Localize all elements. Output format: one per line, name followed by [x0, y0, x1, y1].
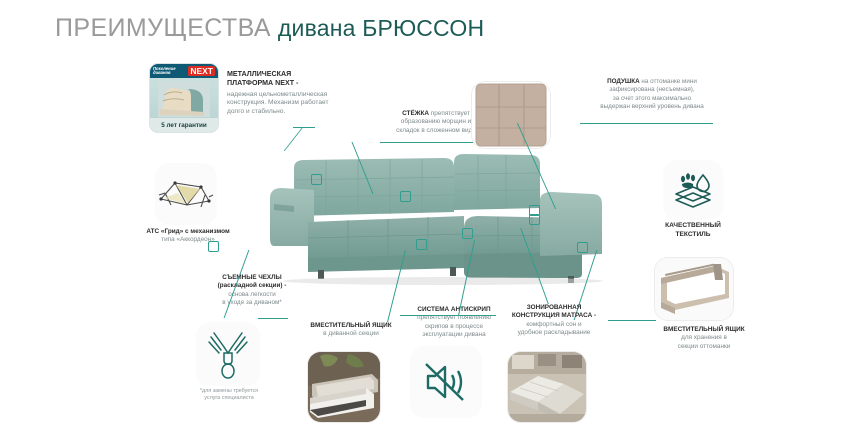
- sofa-hotspot-drawer-sofa[interactable]: [416, 239, 427, 250]
- atc-line2: типа «Аккордеон»: [140, 236, 236, 244]
- pillow-body-line4: выдержан верхний уровень дивана: [578, 103, 726, 111]
- callout-mattress: ЗОНИРОВАННАЯ КОНСТРУКЦИЯ МАТРАСА - комфо…: [492, 304, 616, 338]
- atc-line1: АТС «Грид» с механизмом: [146, 228, 229, 235]
- badge-next-label: NEXT: [188, 66, 215, 76]
- infographic-page: ПРЕИМУЩЕСТВАдивана БРЮССОН Поколение див…: [0, 0, 843, 435]
- badge-top-line2: диванов: [153, 71, 176, 75]
- next-generation-badge: Поколение диванов NEXT 5 лет гарантии: [150, 64, 218, 132]
- textile-line1: КАЧЕСТВЕННЫЙ: [665, 222, 721, 229]
- callout-atc-grid: АТС «Грид» с механизмом типа «Аккордеон»: [140, 228, 236, 245]
- pillow-body-line2: зафиксирована (несъемная),: [578, 86, 726, 94]
- zipper-icon-card: [196, 322, 260, 386]
- sofa-hotspot-covers[interactable]: [208, 241, 219, 252]
- sofa-hotspot-pillow[interactable]: [529, 205, 540, 216]
- sofa-drawer-title: ВМЕСТИТЕЛЬНЫЙ ЯЩИК: [310, 322, 391, 329]
- quilting-body-line1: препятствует: [431, 110, 470, 117]
- covers-footnote: *для замены требуется услуга специалиста: [185, 388, 273, 402]
- callout-pillow: ПОДУШКА на оттоманке мини зафиксирована …: [578, 78, 726, 111]
- platform-title-line2: ПЛАТФОРМА NEXT -: [227, 79, 298, 87]
- mute-speaker-icon: [423, 361, 469, 403]
- platform-body-line3: долго и стабильно.: [227, 108, 347, 117]
- page-title-primary: ПРЕИМУЩЕСТВА: [55, 14, 271, 42]
- ottoman-drawer-line1: для хранения в: [630, 334, 778, 342]
- sofa-hotspot-antisqueak[interactable]: [462, 228, 473, 239]
- connector-platform-diag: [284, 127, 323, 151]
- pillow-title: ПОДУШКА: [607, 78, 640, 85]
- page-title-secondary: дивана БРЮССОН: [278, 15, 484, 41]
- pillow-body-line3: за счет этого максимально: [578, 95, 726, 103]
- sofa-drawer-body: в диванной секции: [296, 330, 406, 338]
- ottoman-drawer-title: ВМЕСТИТЕЛЬНЫЙ ЯЩИК: [663, 326, 744, 333]
- covers-footnote-line2: услуга специалиста: [185, 395, 273, 402]
- sofa-hotspot-platform[interactable]: [311, 174, 322, 185]
- ottoman-drawer-line2: секции оттоманки: [630, 343, 778, 351]
- armchair-photo: [158, 81, 210, 117]
- covers-footnote-line1: *для замены требуется: [185, 388, 273, 395]
- connector-covers-h: [258, 318, 288, 319]
- connector-pillow-h: [580, 123, 713, 124]
- water-repellent-fabric-icon: [672, 170, 714, 210]
- callout-sofa-drawer: ВМЕСТИТЕЛЬНЫЙ ЯЩИК в диванной секции: [296, 322, 406, 339]
- sofa-hotspot-quilting[interactable]: [400, 191, 411, 202]
- mattress-line2: удобное раскладывание: [492, 329, 616, 337]
- callout-metal-platform: МЕТАЛЛИЧЕСКАЯ ПЛАТФОРМА NEXT - надежная …: [227, 70, 347, 117]
- platform-title-line1: МЕТАЛЛИЧЕСКАЯ: [227, 70, 291, 78]
- connector-quilting-h: [380, 142, 488, 143]
- quilting-title: СТЁЖКА: [402, 110, 429, 117]
- mattress-title-line2: КОНСТРУКЦИЯ МАТРАСА -: [512, 312, 596, 319]
- pillow-body-line1: на оттоманке мини: [641, 78, 697, 85]
- badge-warranty: 5 лет гарантии: [150, 118, 218, 132]
- mattress-title-line1: ЗОНИРОВАННАЯ: [527, 304, 582, 311]
- platform-body-line2: конструкция. Механизм работает: [227, 99, 347, 108]
- sofa-drawer-photo: [308, 352, 380, 422]
- textile-icon-card: [663, 160, 723, 220]
- grid-mechanism-photo: [155, 163, 217, 225]
- ottoman-drawer-photo: [655, 258, 733, 320]
- sofa-hotspot-drawer-ottoman[interactable]: [577, 242, 588, 253]
- page-title: ПРЕИМУЩЕСТВАдивана БРЮССОН: [55, 14, 484, 43]
- callout-textile: КАЧЕСТВЕННЫЙ ТЕКСТИЛЬ: [650, 222, 736, 239]
- zipper-icon: [206, 329, 250, 379]
- callout-ottoman-drawer: ВМЕСТИТЕЛЬНЫЙ ЯЩИК для хранения в секции…: [630, 326, 778, 351]
- textile-line2: ТЕКСТИЛЬ: [675, 231, 710, 238]
- badge-header: Поколение диванов NEXT: [150, 64, 218, 78]
- mattress-photo: [508, 352, 586, 422]
- antisqueak-icon-card: [410, 346, 482, 418]
